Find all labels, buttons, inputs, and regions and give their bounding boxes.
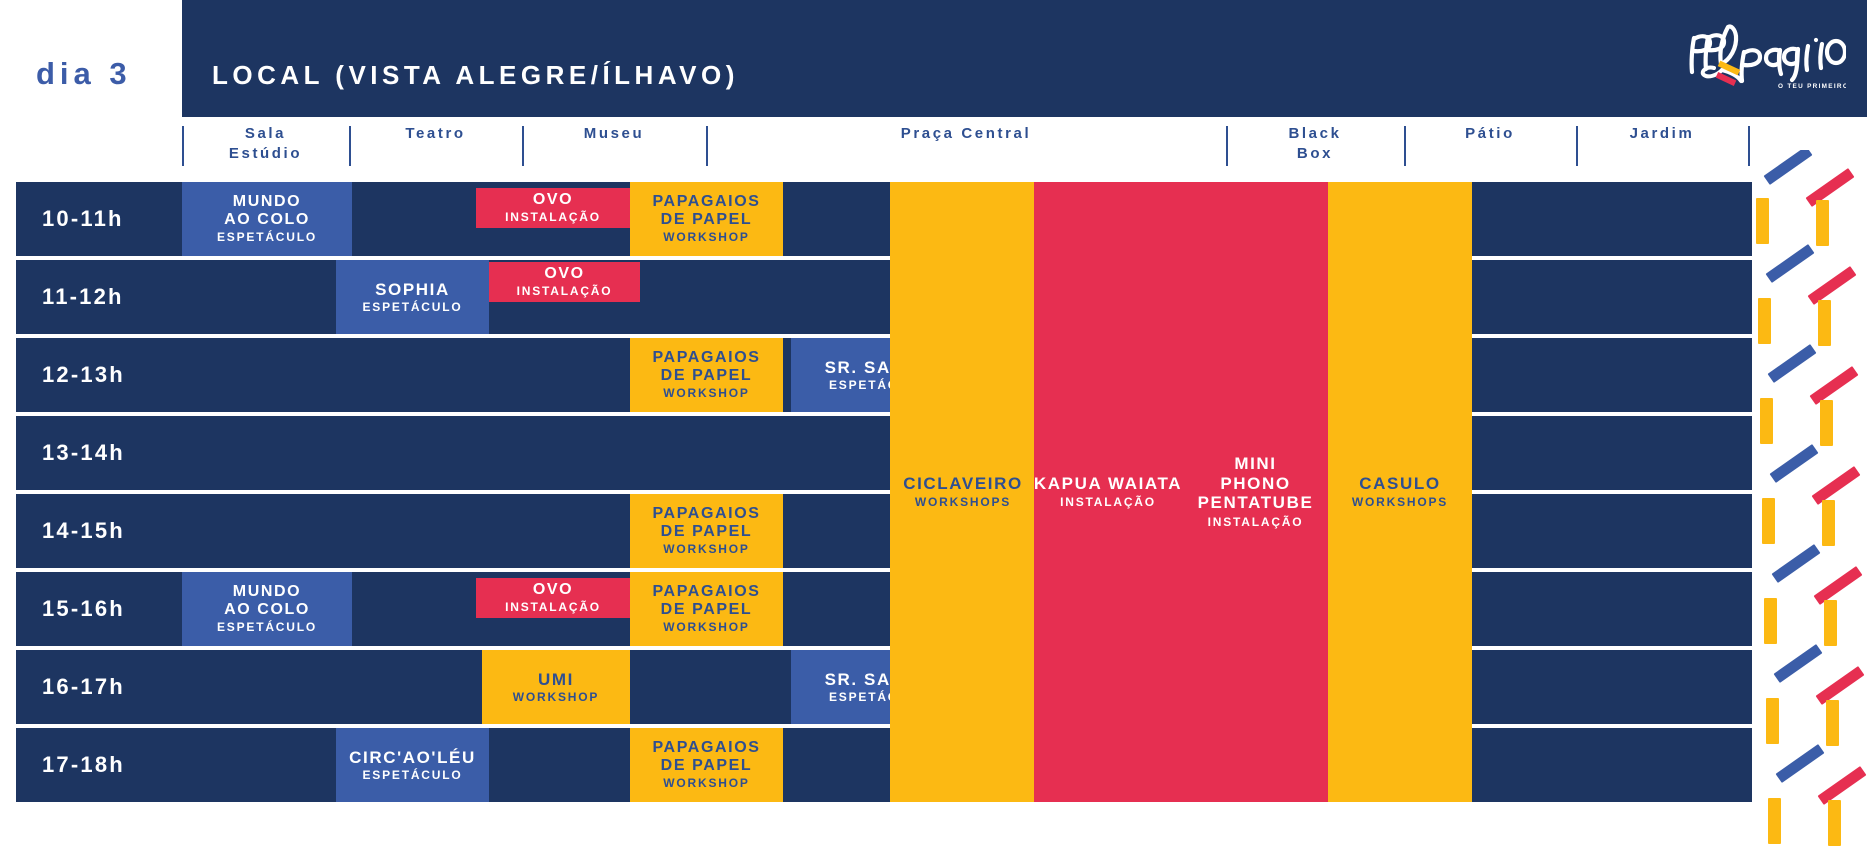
event-block[interactable]: MUNDO AO COLO ESPETÁCULO: [182, 572, 352, 646]
stripe: [1816, 666, 1865, 705]
event-block[interactable]: MUNDO AO COLO ESPETÁCULO: [182, 182, 352, 256]
stripe: [1826, 700, 1839, 746]
stripe: [1822, 500, 1835, 546]
stripe: [1812, 466, 1861, 505]
row-time-label: 14-15h: [42, 518, 125, 544]
papagaio-logo: O TEU PRIMEIRO FESTIVAL!: [1686, 18, 1846, 96]
stripe: [1810, 366, 1859, 405]
table-row: 17-18h CIRC'AO'LÉU ESPETÁCULO PAPAGAIOS …: [16, 728, 1752, 802]
row-time-label: 12-13h: [42, 362, 125, 388]
event-block[interactable]: PAPAGAIOS DE PAPEL WORKSHOP: [630, 572, 783, 646]
row-time-label: 17-18h: [42, 752, 125, 778]
schedule-poster: dia 3 LOCAL (VISTA ALEGRE/ÍLHAVO): [0, 0, 1867, 848]
stripe: [1768, 344, 1817, 383]
svg-text:O TEU PRIMEIRO FESTIVAL!: O TEU PRIMEIRO FESTIVAL!: [1778, 83, 1846, 90]
event-block[interactable]: OVO INSTALAÇÃO: [476, 578, 630, 618]
column-header-sala-estudio: SalaEstúdio: [182, 124, 349, 172]
stripe: [1814, 566, 1863, 605]
row-time-label: 16-17h: [42, 674, 125, 700]
event-block[interactable]: PAPAGAIOS DE PAPEL WORKSHOP: [630, 728, 783, 802]
table-row: 16-17h UMI WORKSHOP SR. SABÃO ESPETÁCULO: [16, 650, 1752, 724]
event-block[interactable]: PAPAGAIOS DE PAPEL WORKSHOP: [630, 182, 783, 256]
stripe: [1758, 298, 1771, 344]
stripe: [1808, 266, 1857, 305]
table-row: 11-12h SOPHIA ESPETÁCULO OVO INSTALAÇÃO: [16, 260, 1752, 334]
row-time-label: 15-16h: [42, 596, 125, 622]
stripe: [1776, 744, 1825, 783]
allday-block-casulo[interactable]: CASULO WORKSHOPS: [1328, 182, 1472, 802]
stripe: [1818, 766, 1867, 805]
event-block[interactable]: PAPAGAIOS DE PAPEL WORKSHOP: [630, 494, 783, 568]
table-row: 12-13h PAPAGAIOS DE PAPEL WORKSHOP SR. S…: [16, 338, 1752, 412]
event-block[interactable]: CIRC'AO'LÉU ESPETÁCULO: [336, 728, 489, 802]
stripe: [1764, 598, 1777, 644]
table-row: 15-16h MUNDO AO COLO ESPETÁCULO OVO INST…: [16, 572, 1752, 646]
column-header-museu: Museu: [522, 124, 706, 172]
stripe: [1768, 798, 1781, 844]
stripe: [1756, 198, 1769, 244]
stripe: [1764, 150, 1813, 185]
stripe: [1772, 544, 1821, 583]
event-block[interactable]: OVO INSTALAÇÃO: [489, 262, 640, 302]
column-header-patio: Pátio: [1404, 124, 1576, 172]
stripe: [1820, 400, 1833, 446]
stripe: [1766, 698, 1779, 744]
column-header-praca-central: Praça Central: [706, 124, 1226, 172]
stripe: [1818, 300, 1831, 346]
decorative-stripes: [1752, 150, 1867, 848]
stripe: [1770, 444, 1819, 483]
stripe: [1806, 168, 1855, 207]
header-bar: dia 3 LOCAL (VISTA ALEGRE/ÍLHAVO): [0, 0, 1867, 117]
table-row: 13-14h: [16, 416, 1752, 490]
stripe: [1760, 398, 1773, 444]
column-divider: [1748, 126, 1750, 166]
event-block[interactable]: UMI WORKSHOP: [482, 650, 630, 724]
stripe: [1824, 600, 1837, 646]
stripe: [1766, 244, 1815, 283]
event-block[interactable]: OVO INSTALAÇÃO: [476, 188, 630, 228]
stripe: [1774, 644, 1823, 683]
column-header-jardim: Jardim: [1576, 124, 1748, 172]
allday-block-ciclaveiro[interactable]: CICLAVEIRO WORKSHOPS: [890, 182, 1036, 802]
allday-block-kapua-waiata[interactable]: KAPUA WAIATA INSTALAÇÃO: [1034, 182, 1182, 802]
column-header-teatro: Teatro: [349, 124, 522, 172]
allday-block-mini-phono-pentatube[interactable]: MINI PHONO PENTATUBE INSTALAÇÃO: [1182, 182, 1329, 802]
table-row: 10-11h MUNDO AO COLO ESPETÁCULO OVO INST…: [16, 182, 1752, 256]
header-banner: [182, 0, 1867, 117]
table-row: 14-15h PAPAGAIOS DE PAPEL WORKSHOP: [16, 494, 1752, 568]
stripe: [1762, 498, 1775, 544]
event-block[interactable]: PAPAGAIOS DE PAPEL WORKSHOP: [630, 338, 783, 412]
column-headers: SalaEstúdio Teatro Museu Praça Central B…: [0, 124, 1867, 179]
row-time-label: 10-11h: [42, 206, 124, 232]
stripe: [1828, 800, 1841, 846]
day-label: dia 3: [36, 56, 132, 92]
stripe: [1816, 200, 1829, 246]
schedule-grid: 10-11h MUNDO AO COLO ESPETÁCULO OVO INST…: [16, 182, 1752, 810]
event-block[interactable]: SOPHIA ESPETÁCULO: [336, 260, 489, 334]
row-time-label: 11-12h: [42, 284, 124, 310]
page-title: LOCAL (VISTA ALEGRE/ÍLHAVO): [212, 60, 739, 91]
row-time-label: 13-14h: [42, 440, 125, 466]
column-header-black-box: BlackBox: [1226, 124, 1404, 172]
